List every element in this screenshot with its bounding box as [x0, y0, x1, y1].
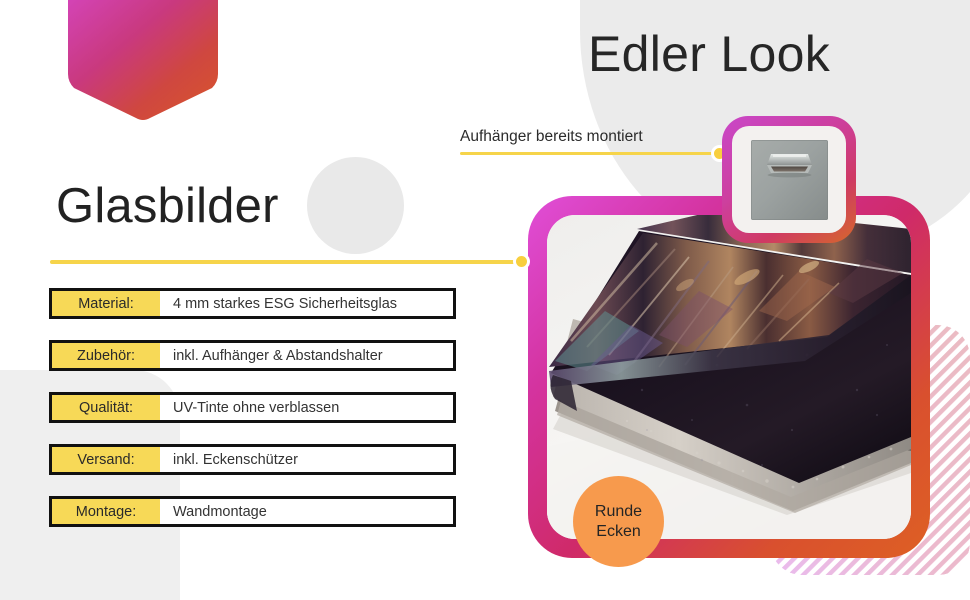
badge-line-1: Runde: [595, 502, 642, 522]
wall-hanger-icon: [751, 140, 828, 220]
badge-line-2: Ecken: [596, 522, 640, 542]
hanger-thumbnail: [722, 116, 856, 243]
hanger-caption: Aufhänger bereits montiert: [460, 128, 643, 146]
spec-value: UV-Tinte ohne verblassen: [160, 395, 453, 420]
spec-table: Material: 4 mm starkes ESG Sicherheitsgl…: [49, 288, 456, 548]
page-title: Glasbilder: [56, 178, 279, 234]
spec-key: Zubehör:: [52, 343, 160, 368]
spec-value: 4 mm starkes ESG Sicherheitsglas: [160, 291, 453, 316]
table-row: Qualität: UV-Tinte ohne verblassen: [49, 392, 456, 423]
connector-line-top: [460, 152, 718, 155]
table-row: Zubehör: inkl. Aufhänger & Abstandshalte…: [49, 340, 456, 371]
spec-key: Versand:: [52, 447, 160, 472]
table-row: Montage: Wandmontage: [49, 496, 456, 527]
connector-line-main: [50, 260, 520, 264]
feature-title: Edler Look: [588, 25, 830, 83]
table-row: Versand: inkl. Eckenschützer: [49, 444, 456, 475]
spec-value: inkl. Aufhänger & Abstandshalter: [160, 343, 453, 368]
table-row: Material: 4 mm starkes ESG Sicherheitsgl…: [49, 288, 456, 319]
shield-banner-icon: [68, 0, 218, 122]
hanger-thumbnail-inner: [732, 126, 846, 233]
connector-dot-main: [513, 253, 530, 270]
spec-key: Montage:: [52, 499, 160, 524]
status-badge: Runde Ecken: [573, 476, 664, 567]
spec-value: inkl. Eckenschützer: [160, 447, 453, 472]
spec-key: Qualität:: [52, 395, 160, 420]
spec-key: Material:: [52, 291, 160, 316]
spec-value: Wandmontage: [160, 499, 453, 524]
infographic-canvas: Edler Look Glasbilder Aufhänger bereits …: [0, 0, 970, 600]
gray-circle-behind-title: [307, 157, 404, 254]
